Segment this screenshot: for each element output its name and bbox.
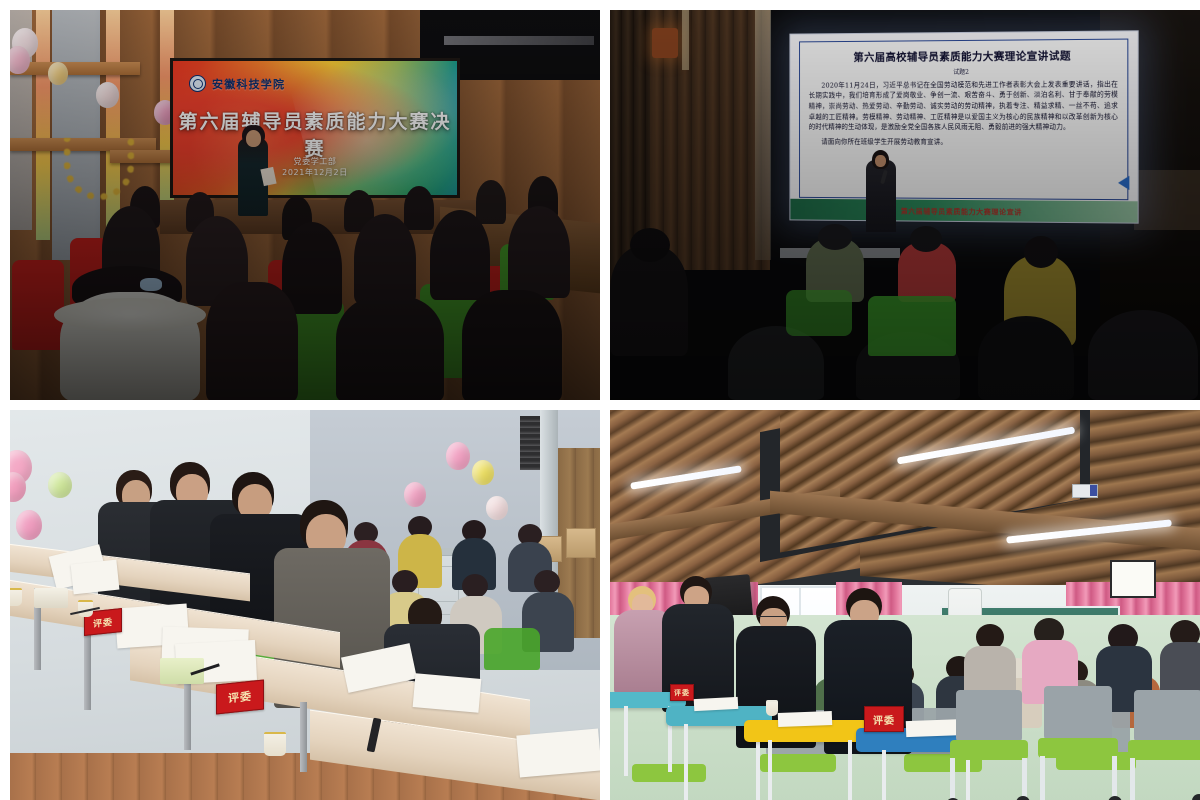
slide-title: 第六届高校辅导员素质能力大赛理论宣讲试题 — [809, 48, 1118, 65]
presenter-face — [875, 155, 886, 167]
control-panel-indicator — [1090, 485, 1097, 496]
slide-content-frame: 第六届高校辅导员素质能力大赛理论宣讲试题 试题2 2020年11月24日，习近平… — [799, 39, 1128, 201]
classroom-chair-seat — [1038, 738, 1118, 758]
paper-cup — [264, 732, 286, 756]
panel-judges-table: 评委 评委 — [10, 410, 600, 800]
balloon-green-1 — [48, 472, 72, 498]
desk-leg — [768, 740, 772, 800]
table-leg — [300, 702, 307, 772]
classroom-chair-back — [956, 690, 1022, 742]
chair-leg — [1112, 756, 1117, 800]
balloon-pink-5 — [404, 482, 426, 507]
hall-right-panel — [1134, 170, 1200, 230]
score-sheet — [413, 673, 482, 713]
score-sheet — [71, 560, 120, 595]
desk-leg — [848, 740, 852, 800]
paper-cup — [10, 588, 22, 606]
panel-classroom-audience: 评委 评委 — [610, 410, 1200, 800]
audience-head — [910, 226, 942, 252]
panel-stage-led-screen: 安徽科技学院 第六届辅导员素质能力大赛决赛 党委学工部 2021年12月2日 — [10, 10, 600, 400]
classroom-chair-back — [1044, 686, 1112, 740]
glasses-icon — [758, 616, 786, 621]
photo-collage: 安徽科技学院 第六届辅导员素质能力大赛决赛 党委学工部 2021年12月2日 — [0, 0, 1200, 800]
panel-projector-slide: 第六届高校辅导员素质能力大赛理论宣讲试题 试题2 2020年11月24日，习近平… — [610, 10, 1200, 400]
foreground-person — [978, 316, 1074, 400]
slide-play-triangle-icon — [1118, 176, 1129, 190]
slide-subtitle: 试题2 — [809, 66, 1118, 77]
audience-chair-green — [484, 628, 540, 670]
audience-chair-green — [786, 290, 852, 336]
chair-leg — [1040, 756, 1045, 800]
wall-light-strip-thin — [682, 10, 689, 70]
audience-head — [462, 574, 488, 598]
judge-name-card: 评委 — [864, 706, 904, 732]
tissue-box — [34, 588, 68, 608]
audience-chair-green — [868, 296, 956, 356]
judge-name-card: 评委 — [216, 679, 264, 714]
score-sheet — [694, 697, 739, 711]
balloon-white-1 — [486, 496, 508, 520]
desk-leg — [882, 750, 886, 800]
audience-person — [610, 246, 688, 356]
foreground-person — [728, 326, 824, 400]
chair-leg — [1130, 758, 1135, 800]
desk-leg — [624, 706, 628, 776]
desk-leg — [684, 724, 688, 800]
presenter-body — [866, 160, 896, 232]
storage-box — [566, 528, 596, 558]
slide-body-paragraph-1: 2020年11月24日，习近平总书记在全国劳动模范和先进工作者表彰大会上发表重要… — [809, 79, 1118, 133]
audience-head — [630, 228, 670, 262]
chair-leg — [950, 758, 955, 800]
classroom-chair-seat — [1128, 740, 1200, 760]
wall-vent — [520, 416, 542, 470]
audience-head — [818, 224, 852, 250]
classroom-chair-back — [1134, 690, 1200, 742]
chair-leg — [1022, 758, 1027, 800]
balloon-pink-4 — [446, 442, 470, 470]
audience-head — [534, 570, 560, 594]
wall-lamp — [652, 28, 678, 58]
judge-name-card: 评委 — [670, 684, 694, 701]
audience-head — [392, 570, 418, 594]
balloon-pink-3 — [16, 510, 42, 540]
balloon-yellow-1 — [472, 460, 494, 485]
audience-head — [1024, 236, 1058, 268]
foreground-person — [1088, 310, 1198, 400]
slide-body-paragraph-2: 请面向你所在班级学生开展劳动教育宣讲。 — [809, 137, 1118, 148]
paper-cup — [766, 700, 778, 716]
wall-light-strip — [755, 10, 771, 260]
score-sheet — [516, 729, 600, 778]
classroom-chair-seat — [950, 740, 1028, 760]
wall-poster-frame — [1110, 560, 1156, 598]
projected-slide: 第六届高校辅导员素质能力大赛理论宣讲试题 试题2 2020年11月24日，习近平… — [789, 30, 1138, 223]
score-sheet — [778, 711, 832, 727]
photo-vignette — [10, 10, 600, 400]
